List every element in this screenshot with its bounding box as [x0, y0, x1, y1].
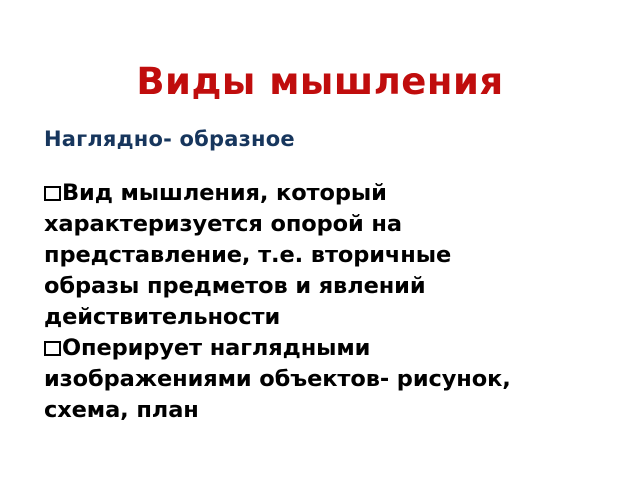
hollow-square-bullet-icon: [44, 186, 61, 201]
slide-canvas: Виды мышления Наглядно- образное Вид мыш…: [0, 0, 640, 480]
page-title: Виды мышления: [0, 59, 640, 105]
slide-body: Наглядно- образное Вид мышления, который…: [44, 126, 544, 426]
list-item-label: Вид мышления, который характеризуется оп…: [44, 180, 451, 330]
list-item: Вид мышления, который характеризуется оп…: [44, 178, 544, 333]
slide-subtitle: Наглядно- образное: [44, 126, 544, 152]
bullet-list: Вид мышления, который характеризуется оп…: [44, 178, 544, 426]
list-item-label: Оперирует наглядными изображениями объек…: [44, 335, 511, 423]
hollow-square-bullet-icon: [44, 341, 61, 356]
list-item: Оперирует наглядными изображениями объек…: [44, 333, 544, 426]
